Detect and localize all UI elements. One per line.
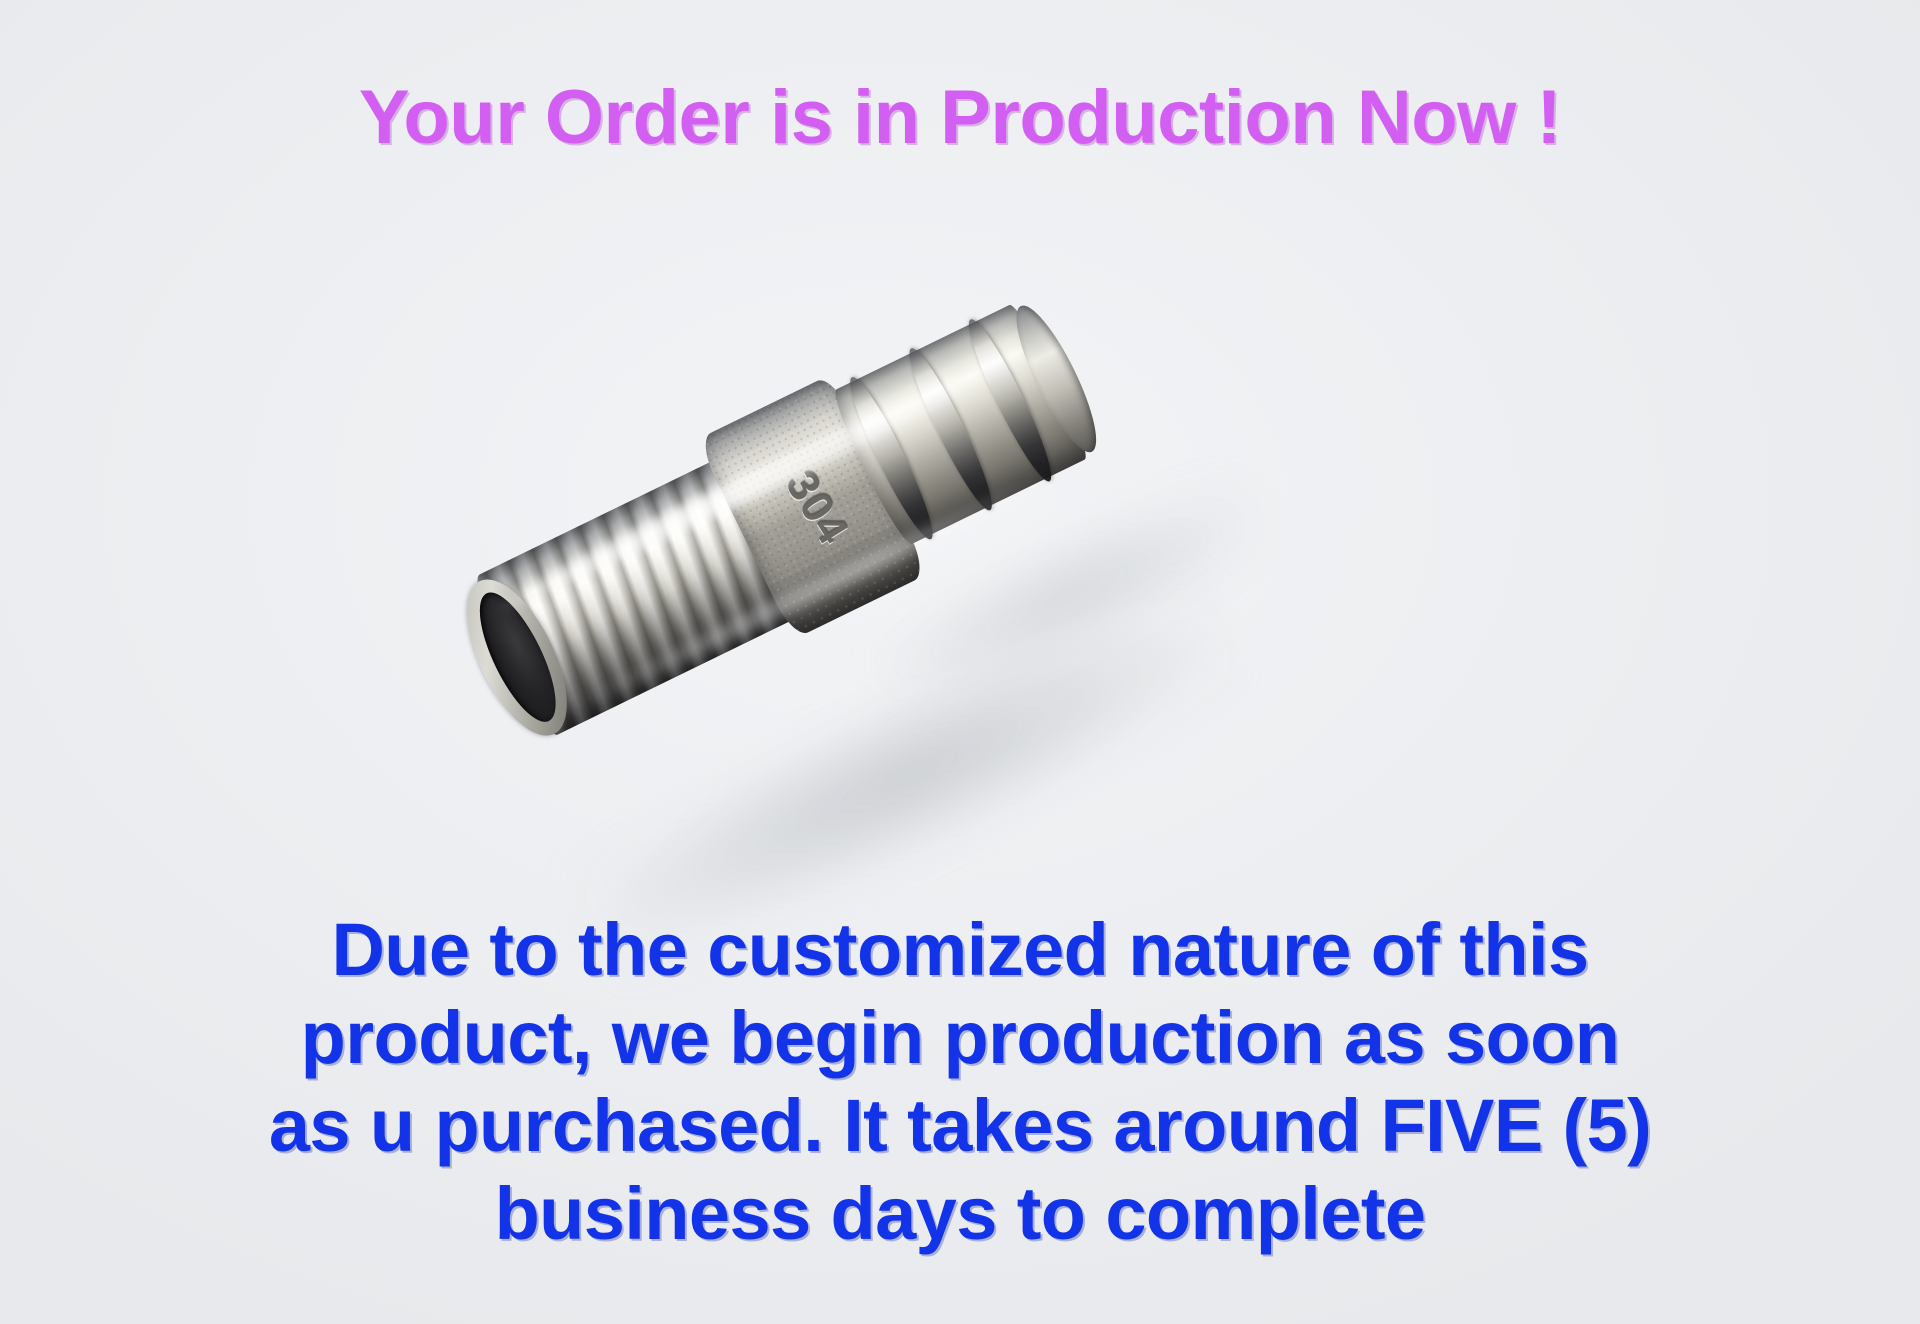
notice-line-1: Due to the customized nature of this [0, 906, 1920, 994]
hex-facet-shading [697, 374, 929, 639]
product-drop-shadow-secondary [856, 456, 1283, 733]
hose-barb-fitting: 304 [338, 96, 1115, 763]
lower-reflection-highlight [561, 454, 1081, 720]
production-notice-text: Due to the customized nature of this pro… [0, 906, 1920, 1258]
notice-line-4: business days to complete [0, 1170, 1920, 1258]
barb-section [828, 301, 1094, 549]
bore-opening [465, 583, 570, 732]
page-title: Your Order is in Production Now ! [0, 74, 1920, 162]
hex-cast-texture [697, 374, 929, 639]
notice-line-3: as u purchased. It takes around FIVE (5) [0, 1082, 1920, 1170]
barb-ridge-2 [900, 343, 1002, 516]
thread-ridges [467, 449, 815, 740]
notice-line-2: product, we begin production as soon [0, 994, 1920, 1082]
specular-highlight [487, 332, 1047, 623]
barb-end-face [1003, 297, 1110, 460]
barb-ridge-3 [959, 314, 1061, 487]
barb-ridge-1 [840, 372, 942, 545]
thread-shading [467, 449, 815, 740]
hex-flats [697, 374, 929, 639]
promo-banner: 304 Your Order is in Production Now ! Du… [0, 0, 1920, 1324]
material-grade-stamp: 304 [725, 420, 907, 596]
bore-rim [446, 565, 587, 750]
threaded-section [467, 449, 815, 740]
